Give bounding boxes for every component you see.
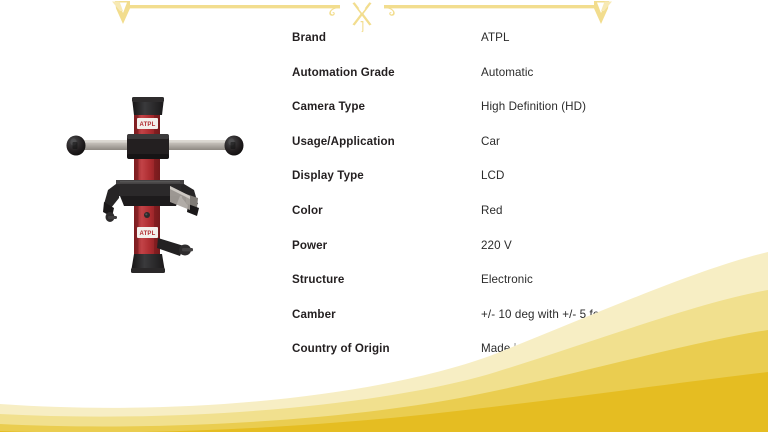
spec-label: Color [292, 205, 481, 217]
table-row: Country of Origin Made in India [292, 343, 722, 378]
table-row: Color Red [292, 205, 722, 240]
spec-value: Electronic [481, 274, 722, 286]
spec-label: Usage/Application [292, 136, 481, 148]
spec-label: Camber [292, 309, 481, 321]
spec-label: Camera Type [292, 101, 481, 113]
spec-label: Power [292, 240, 481, 252]
table-row: Usage/Application Car [292, 136, 722, 171]
spec-value: Automatic [481, 67, 722, 79]
spec-label: Country of Origin [292, 343, 481, 355]
spec-label: Display Type [292, 170, 481, 182]
spec-label: Structure [292, 274, 481, 286]
spec-value: Made in India [481, 343, 722, 355]
gold-flourish-divider [112, 0, 612, 34]
spec-value: LCD [481, 170, 722, 182]
spec-value: Car [481, 136, 722, 148]
table-row: Camber +/- 10 deg with +/- 5 feet [292, 309, 722, 344]
spec-value: ATPL [481, 32, 722, 44]
spec-value: Red [481, 205, 722, 217]
spec-value: High Definition (HD) [481, 101, 722, 113]
table-row: Power 220 V [292, 240, 722, 275]
table-row: Structure Electronic [292, 274, 722, 309]
table-row: Camera Type High Definition (HD) [292, 101, 722, 136]
product-image: ATPL ATPL [58, 86, 253, 282]
specification-table: Brand ATPL Automation Grade Automatic Ca… [292, 32, 722, 378]
spec-value: +/- 10 deg with +/- 5 feet [481, 309, 722, 321]
svg-text:ATPL: ATPL [139, 122, 155, 128]
spec-label: Automation Grade [292, 67, 481, 79]
product-spec-slide: ATPL ATPL [0, 0, 768, 432]
table-row: Brand ATPL [292, 32, 722, 67]
spec-value: 220 V [481, 240, 722, 252]
table-row: Display Type LCD [292, 170, 722, 205]
table-row: Automation Grade Automatic [292, 67, 722, 102]
svg-text:ATPL: ATPL [139, 231, 155, 237]
spec-label: Brand [292, 32, 481, 44]
